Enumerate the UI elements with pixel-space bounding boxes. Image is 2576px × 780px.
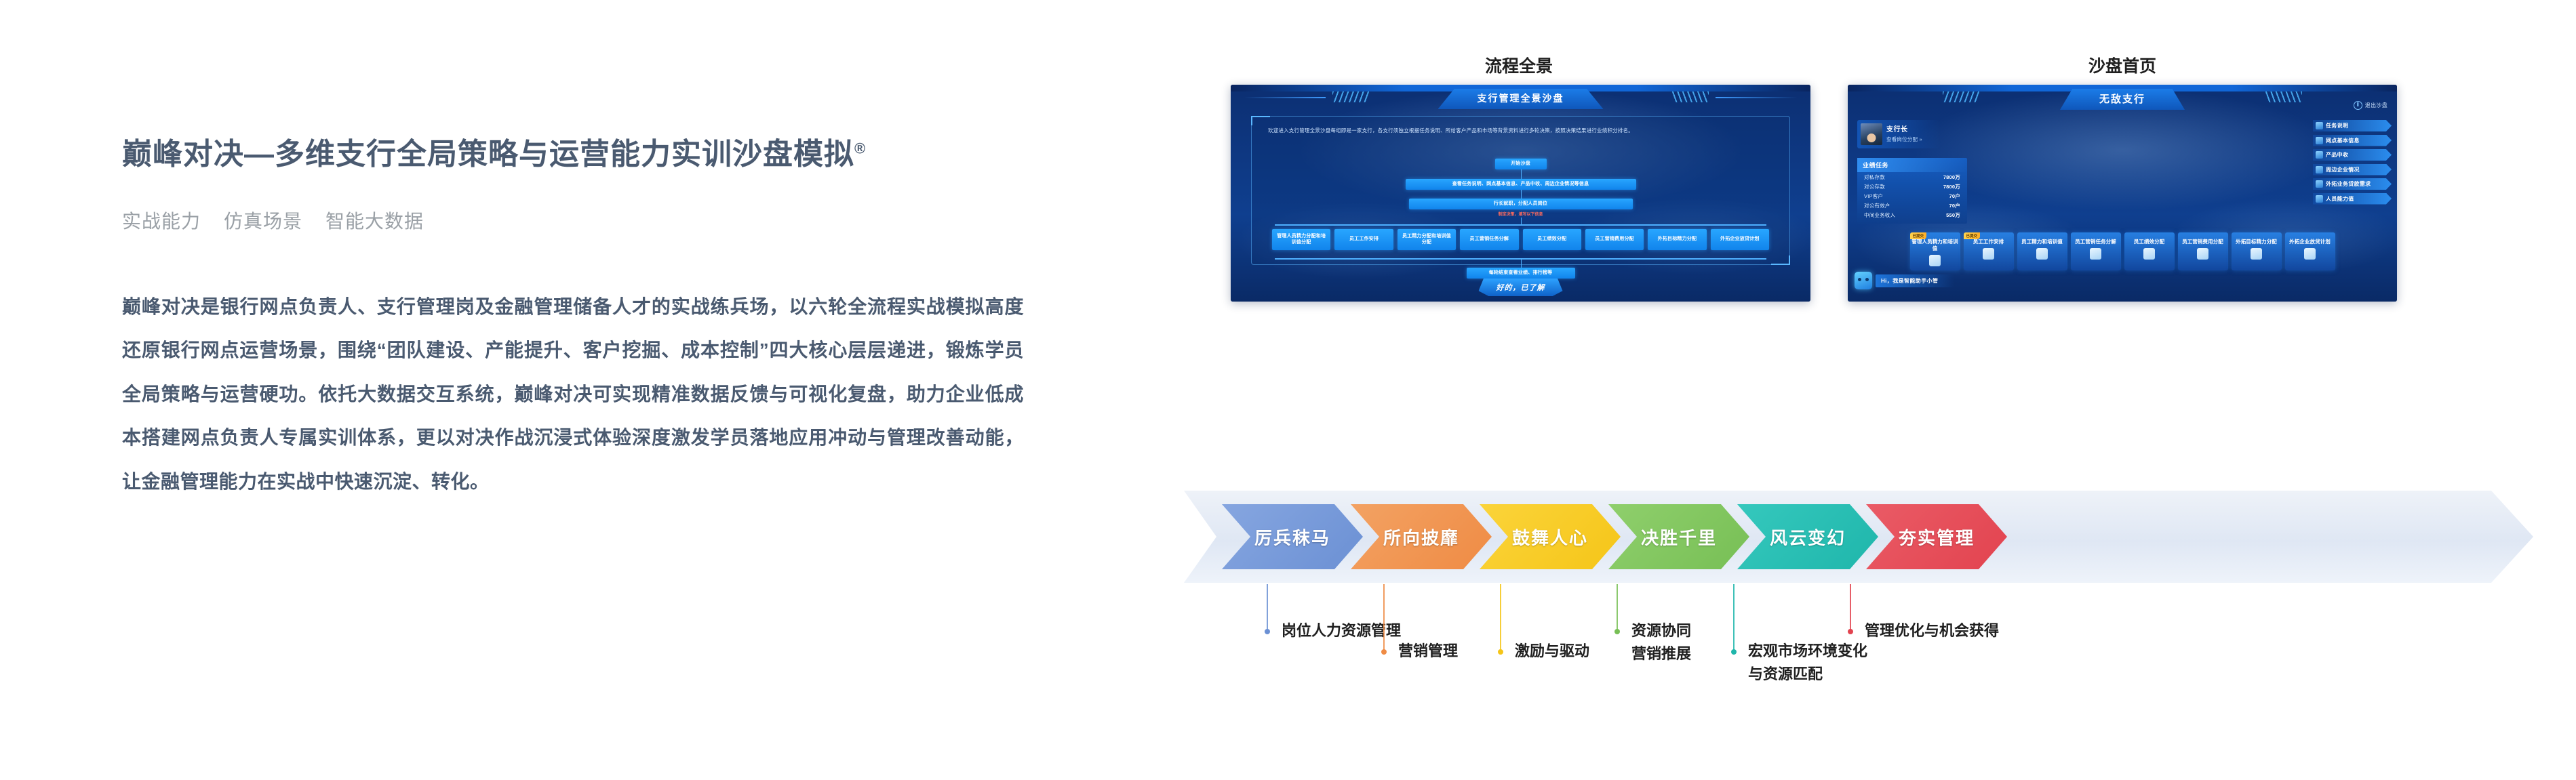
legend-connector-dot — [1848, 629, 1853, 634]
action-card-label: 员工精力和培训值 — [2019, 239, 2066, 245]
legend-connector-dot — [1381, 649, 1387, 655]
kpi-row: 对公存款 7800万 — [1857, 182, 1967, 191]
power-icon — [2354, 101, 2362, 110]
kpi-label: 中间业务收入 — [1864, 211, 1895, 219]
legend-connector-line — [1617, 584, 1618, 632]
manager-energy-icon — [1929, 255, 1941, 266]
performance-task-panel: 业绩任务 对私存款 7800万 对公存款 7800万 VIP客户 70户 对公有… — [1857, 158, 1967, 224]
action-card[interactable]: 员工精力和培训值 — [2017, 232, 2067, 270]
legend-connector-dot — [1731, 649, 1737, 655]
flow-connector-1 — [1521, 169, 1522, 179]
submitted-badge: 已提交 — [1964, 232, 1981, 239]
calendar-icon — [1983, 248, 1994, 260]
tagline-item-3: 智能大数据 — [325, 211, 424, 232]
kpi-value: 7800万 — [1943, 173, 1960, 181]
action-card[interactable]: 员工营销任务分解 — [2071, 232, 2121, 270]
home-side-menu: 任务说明 网点基本信息 产品中收 周边企业情况 外拓业务贷款需求 人员能力值 — [2313, 120, 2392, 205]
view-post-assignment-link[interactable]: 查看岗位分配 » — [1886, 136, 1922, 143]
left-content-column: 巅峰对决—多维支行全局策略与运营能力实训沙盘模拟® 实战能力仿真场景智能大数据 … — [122, 136, 1024, 504]
action-card-label: 员工工作安排 — [1965, 239, 2013, 245]
menu-item-label: 外拓业务贷款需求 — [2326, 180, 2371, 188]
process-chevron-band: 厉兵秣马所向披靡鼓舞人心决胜千里风云变幻夯实管理 — [1180, 487, 2576, 588]
robot-icon — [1855, 272, 1872, 289]
flow-task-node[interactable]: 外拓企业放贷计划 — [1711, 229, 1769, 250]
screenshot-flow-panorama[interactable]: 支行管理全景沙盘 欢迎进入支行管理全景沙盘每组即是一家支行，各支行须独立根据任务… — [1231, 85, 1810, 302]
avatar — [1861, 123, 1882, 145]
process-step-3[interactable]: 鼓舞人心 — [1480, 504, 1621, 569]
flow-task-node[interactable]: 管理人员精力分配和培训值分配 — [1272, 229, 1330, 250]
kpi-row: VIP客户 70户 — [1857, 191, 1967, 201]
menu-item-product-income[interactable]: 产品中收 — [2313, 149, 2392, 161]
process-step-5[interactable]: 风云变幻 — [1737, 504, 1878, 569]
action-card[interactable]: 外拓目标精力分配 — [2232, 232, 2282, 270]
kpi-row: 对私存款 7800万 — [1857, 172, 1967, 182]
legend-connector-line — [1733, 584, 1735, 652]
exit-sandbox-button[interactable]: 退出沙盘 — [2354, 101, 2387, 110]
hatch-decor-left — [1943, 91, 1979, 102]
kpi-value: 550万 — [1946, 211, 1960, 219]
hatch-decor-left — [1332, 91, 1369, 102]
legend-connector-dot — [1265, 629, 1270, 634]
home-title: 无敌支行 — [2060, 89, 2185, 110]
legend-caption: 营销管理 — [1398, 640, 1458, 663]
flow-task-node[interactable]: 员工工作安排 — [1334, 229, 1393, 250]
legend-connector-line — [1500, 584, 1501, 652]
flow-node-start[interactable]: 开始沙盘 — [1495, 159, 1547, 169]
chevron-row: 厉兵秣马所向披靡鼓舞人心决胜千里风云变幻夯实管理 — [1222, 504, 1995, 569]
registered-mark: ® — [854, 140, 866, 157]
process-legend: 岗位人力资源管理营销管理激励与驱动资源协同营销推展宏观市场环境变化与资源匹配管理… — [1180, 584, 2576, 754]
action-card-label: 员工营销费用分配 — [2179, 239, 2227, 245]
process-step-6[interactable]: 夯实管理 — [1866, 504, 2007, 569]
people-icon — [2316, 195, 2323, 203]
pie-chart-icon — [2251, 248, 2262, 260]
deco-line-right — [1716, 97, 1797, 98]
flow-node-note: 制定决策，填写以下信息 — [1498, 211, 1543, 217]
kpi-label: 对公有效户 — [1864, 202, 1890, 209]
kpi-value: 7800万 — [1943, 183, 1960, 190]
legend-connector-dot — [1614, 629, 1620, 634]
legend-connector-dot — [1498, 649, 1503, 655]
kpi-label: 对公存款 — [1864, 183, 1885, 190]
legend-caption-line2: 与资源匹配 — [1748, 663, 1867, 686]
kpi-row: 中间业务收入 550万 — [1857, 210, 1967, 220]
user-role-name: 支行长 — [1886, 123, 1922, 134]
menu-item-label: 网点基本信息 — [2326, 137, 2360, 144]
legend-connector-line — [1383, 584, 1385, 652]
menu-item-label: 任务说明 — [2326, 122, 2348, 129]
action-card[interactable]: 员工营销费用分配 — [2178, 232, 2228, 270]
page-title-text: 巅峰对决—多维支行全局策略与运营能力实训沙盘模拟 — [122, 138, 854, 171]
process-step-4[interactable]: 决胜千里 — [1608, 504, 1749, 569]
process-step-label: 风云变幻 — [1770, 525, 1846, 550]
flow-node-assign[interactable]: 行长就职，分配人员岗位 — [1409, 199, 1633, 209]
flow-task-node[interactable]: 员工营销任务分解 — [1460, 229, 1518, 250]
hatch-decor-right — [1672, 91, 1709, 102]
home-title-wrap: 无敌支行 — [2060, 89, 2185, 110]
legend-caption: 激励与驱动 — [1515, 640, 1589, 663]
slide-root: 巅峰对决—多维支行全局策略与运营能力实训沙盘模拟® 实战能力仿真场景智能大数据 … — [0, 0, 2576, 780]
action-card[interactable]: 外拓企业放贷计划 — [2285, 232, 2335, 270]
hatch-decor-right — [2265, 91, 2302, 102]
process-step-label: 夯实管理 — [1899, 525, 1975, 550]
legend-caption: 宏观市场环境变化与资源匹配 — [1748, 640, 1867, 686]
flow-title-wrap: 支行管理全景沙盘 — [1438, 89, 1604, 109]
flow-task-node[interactable]: 员工营销费用分配 — [1585, 229, 1644, 250]
screenshot-captions: 流程全景 沙盘首页 — [1180, 53, 2576, 80]
submitted-badge: 已提交 — [1910, 232, 1927, 239]
menu-item-label: 人员能力值 — [2326, 195, 2354, 203]
process-step-2[interactable]: 所向披靡 — [1351, 504, 1492, 569]
legend-caption: 资源协同营销推展 — [1631, 619, 1691, 665]
process-step-label: 鼓舞人心 — [1512, 525, 1588, 550]
process-step-label: 决胜千里 — [1641, 525, 1717, 550]
flow-task-row: 管理人员精力分配和培训值分配 员工工作安排 员工精力分配和培训值分配 员工营销任… — [1272, 229, 1769, 250]
flow-task-node[interactable]: 外拓目标精力分配 — [1648, 229, 1706, 250]
kpi-value: 70户 — [1949, 192, 1960, 200]
menu-item-label: 产品中收 — [2326, 151, 2348, 159]
document-icon — [2316, 122, 2323, 129]
factory-icon — [2316, 166, 2323, 173]
right-visual-column: 流程全景 沙盘首页 支行管理全景沙盘 欢迎进入支行管理全景沙盘每组即是一家支行，… — [1180, 0, 2576, 780]
performance-task-heading: 业绩任务 — [1857, 158, 1967, 172]
kpi-row: 对公有效户 70户 — [1857, 201, 1967, 210]
kpi-label: 对私存款 — [1864, 173, 1885, 181]
flow-description: 欢迎进入支行管理全景沙盘每组即是一家支行，各支行须独立根据任务说明、所给客户产品… — [1268, 126, 1773, 136]
menu-item-branch-info[interactable]: 网点基本信息 — [2313, 135, 2392, 146]
menu-item-nearby-enterprises[interactable]: 周边企业情况 — [2313, 164, 2392, 176]
menu-item-task-brief[interactable]: 任务说明 — [2313, 120, 2392, 131]
flow-content-frame: 欢迎进入支行管理全景沙盘每组即是一家支行，各支行须独立根据任务说明、所给客户产品… — [1251, 116, 1790, 265]
page-title: 巅峰对决—多维支行全局策略与运营能力实训沙盘模拟® — [122, 136, 1024, 173]
product-icon — [2316, 151, 2323, 159]
flow-connector-2 — [1521, 190, 1522, 199]
action-card-label: 员工营销任务分解 — [2072, 239, 2120, 245]
screenshot-sandbox-home[interactable]: 无敌支行 退出沙盘 支行长 查看岗位分配 » 业绩任务 对私存款 — [1848, 85, 2397, 302]
legend-connector-line — [1850, 584, 1851, 632]
tagline-row: 实战能力仿真场景智能大数据 — [122, 207, 1024, 234]
process-step-label: 厉兵秣马 — [1254, 525, 1330, 550]
tagline-item-1: 实战能力 — [122, 211, 201, 232]
legend-caption-line1: 宏观市场环境变化 — [1748, 640, 1867, 663]
money-bag-icon — [2197, 248, 2208, 260]
office-building-icon — [2304, 248, 2316, 260]
legend-caption-line1: 营销管理 — [1398, 640, 1458, 663]
kpi-label: VIP客户 — [1864, 192, 1883, 200]
menu-item-loan-demand[interactable]: 外拓业务贷款需求 — [2313, 178, 2392, 190]
deco-line-left — [1244, 97, 1326, 98]
menu-item-label: 周边企业情况 — [2326, 166, 2360, 173]
action-card-label: 外拓企业放贷计划 — [2286, 239, 2334, 245]
action-card[interactable]: 已提交 员工工作安排 — [1964, 232, 2014, 270]
legend-caption-line2: 营销推展 — [1631, 642, 1691, 665]
action-card[interactable]: 员工绩效分配 — [2124, 232, 2175, 270]
process-step-label: 所向披靡 — [1383, 525, 1459, 550]
flow-title: 支行管理全景沙盘 — [1438, 89, 1604, 109]
flow-task-node[interactable]: 员工精力分配和培训值分配 — [1398, 229, 1456, 250]
legend-caption-line1: 激励与驱动 — [1515, 640, 1589, 663]
screenshot-caption-flow: 流程全景 — [1485, 53, 1553, 77]
exit-sandbox-label: 退出沙盘 — [2365, 102, 2387, 109]
flow-connector-4 — [1521, 258, 1522, 268]
action-card-label: 外拓目标精力分配 — [2233, 239, 2280, 245]
action-card-label: 员工绩效分配 — [2126, 239, 2173, 245]
legend-connector-line — [1267, 584, 1268, 632]
menu-item-staff-ability[interactable]: 人员能力值 — [2313, 193, 2392, 205]
process-step-1[interactable]: 厉兵秣马 — [1222, 504, 1363, 569]
kpi-value: 70户 — [1949, 202, 1960, 209]
building-icon — [2316, 137, 2323, 144]
assistant-widget[interactable]: Hi，我是智能助手小管 — [1855, 272, 1954, 289]
legend-caption: 管理优化与机会获得 — [1865, 619, 1999, 642]
tagline-item-2: 仿真场景 — [224, 211, 302, 232]
chart-icon — [2143, 248, 2155, 260]
action-card-label: 管理人员精力和培训值 — [1911, 239, 1959, 252]
legend-caption-line1: 管理优化与机会获得 — [1865, 619, 1999, 642]
action-card[interactable]: 已提交 管理人员精力和培训值 — [1910, 232, 1960, 270]
loan-icon — [2316, 180, 2323, 188]
home-action-cards: 已提交 管理人员精力和培训值 已提交 员工工作安排 员工精力和培训值 员工营销任… — [1860, 232, 2385, 270]
flow-bus-top — [1275, 224, 1766, 226]
flow-confirm-button[interactable]: 好的，已了解 — [1479, 279, 1563, 296]
diamond-icon — [2036, 248, 2048, 260]
legend-caption-line1: 资源协同 — [1631, 619, 1691, 642]
flow-node-review[interactable]: 查看任务说明、网点基本信息、产品中收、周边企业情况等信息 — [1406, 179, 1636, 190]
flow-connector-3 — [1521, 218, 1522, 224]
assistant-message: Hi，我是智能助手小管 — [1876, 274, 1954, 287]
flow-task-node[interactable]: 员工绩效分配 — [1523, 229, 1581, 250]
body-paragraph: 巅峰对决是银行网点负责人、支行管理岗及金融管理储备人才的实战练兵场，以六轮全流程… — [122, 285, 1024, 504]
user-role-card[interactable]: 支行长 查看岗位分配 » — [1857, 120, 1940, 148]
clipboard-icon — [2090, 248, 2101, 260]
flow-node-end[interactable]: 每轮结束查看业绩、排行榜等 — [1467, 268, 1575, 279]
screenshot-caption-home: 沙盘首页 — [2088, 53, 2156, 77]
